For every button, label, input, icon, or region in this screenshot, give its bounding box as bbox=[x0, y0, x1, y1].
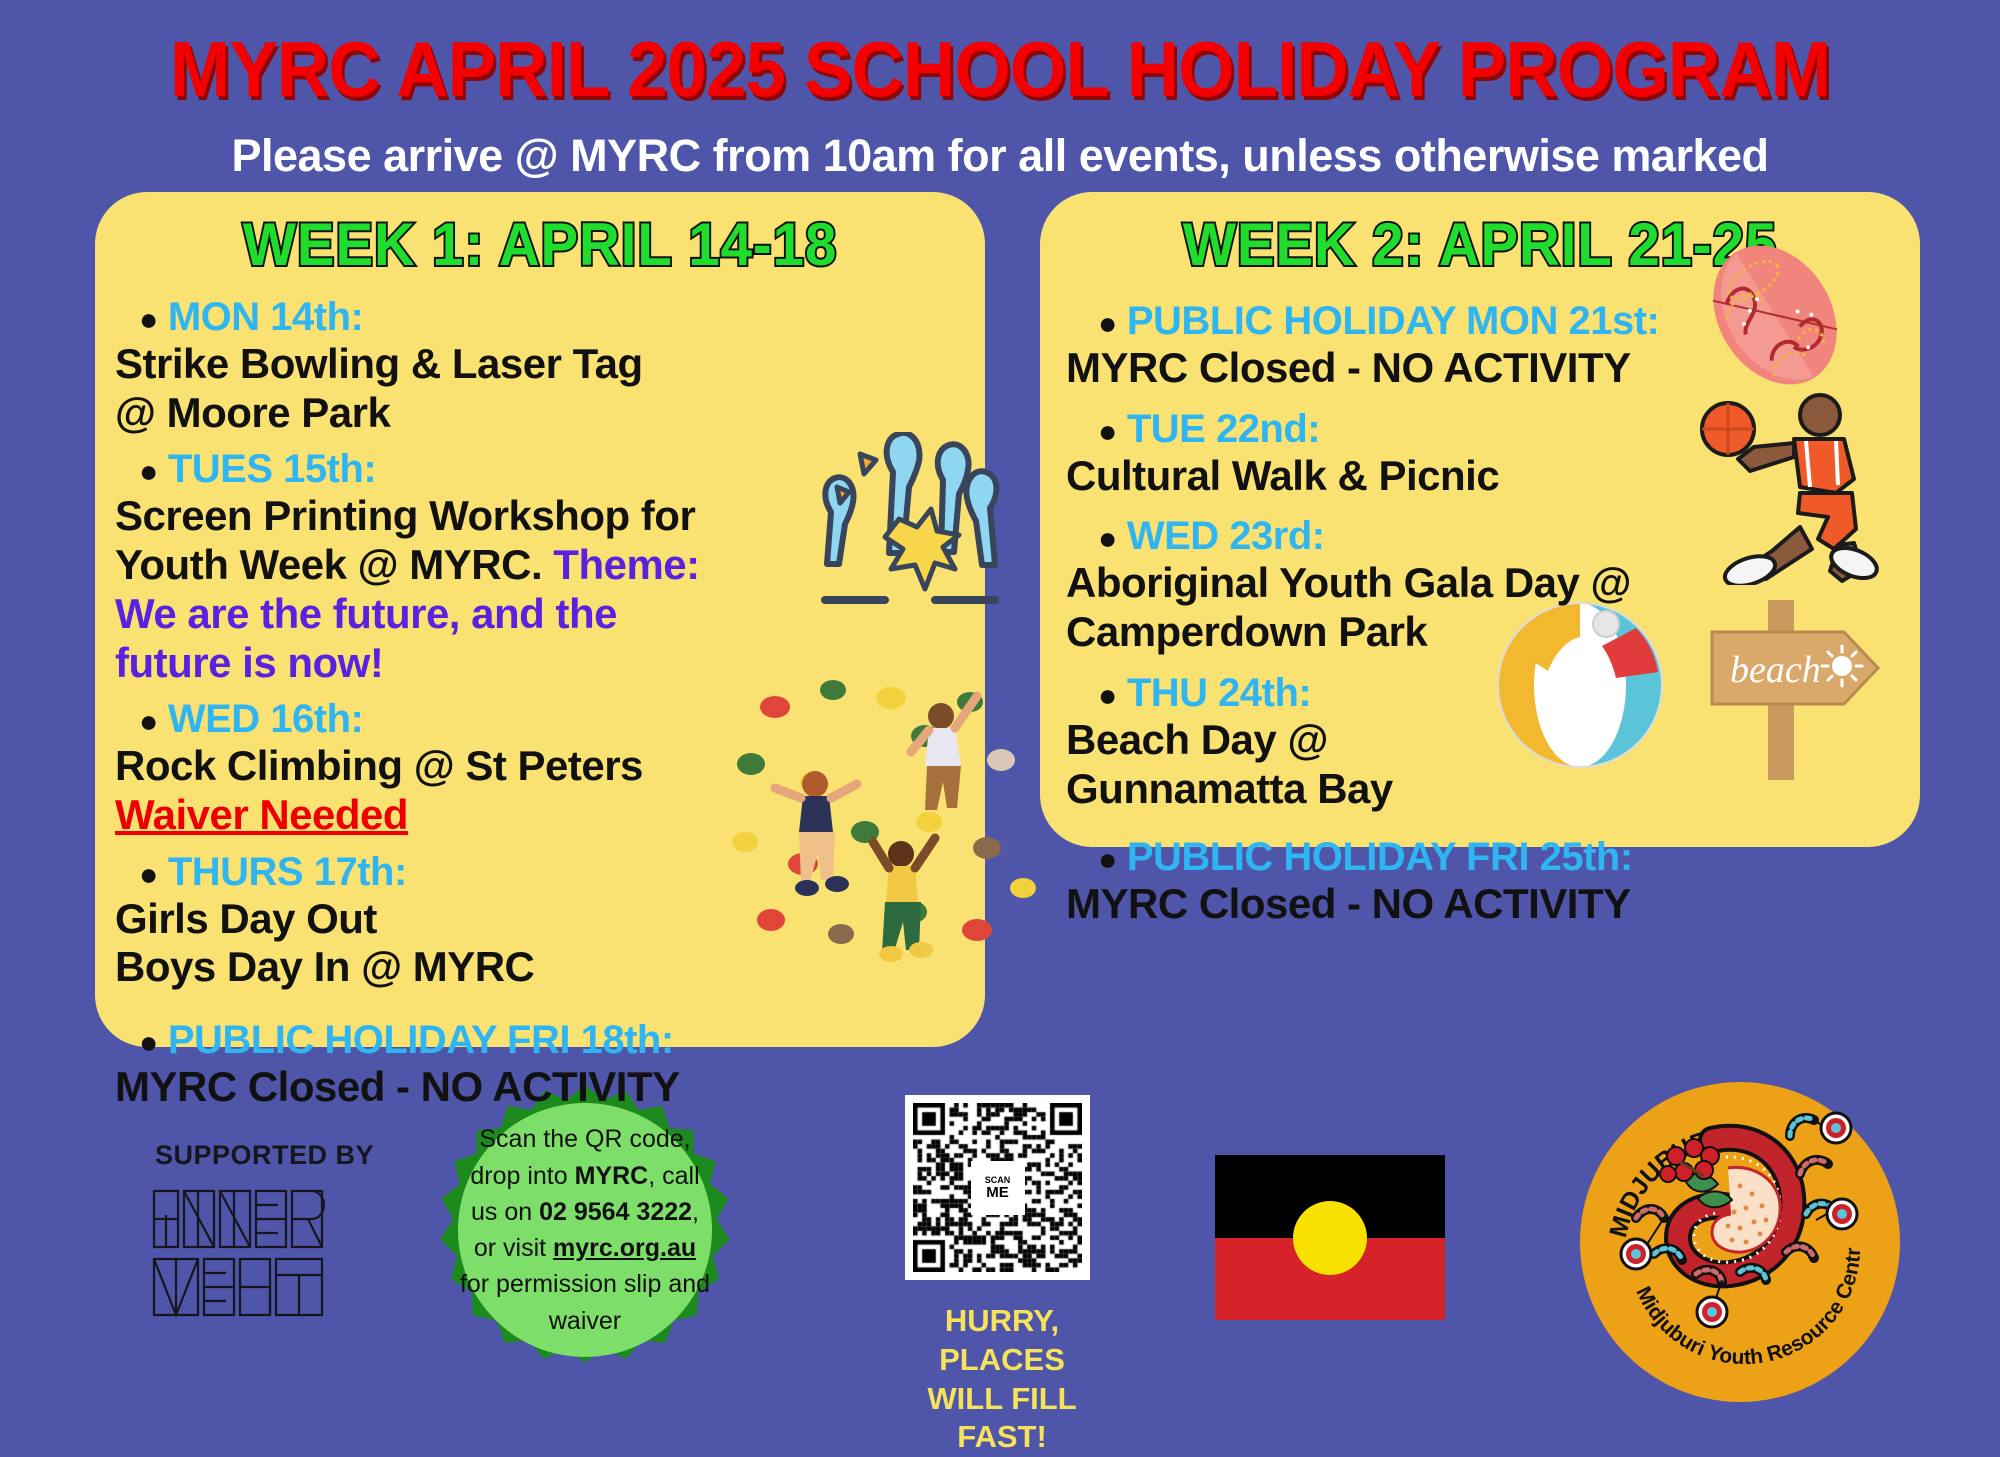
desc-line: @ Moore Park bbox=[115, 389, 721, 438]
week2-card: WEEK 2: APRIL 21-25 ●PUBLIC HOLIDAY MON … bbox=[1040, 192, 1920, 847]
desc-tue22: Cultural Walk & Picnic bbox=[1040, 452, 1700, 501]
bullet-icon: ● bbox=[139, 301, 158, 337]
page-title: MYRC APRIL 2025 SCHOOL HOLIDAY PROGRAM bbox=[70, 24, 1930, 115]
desc-mon: Strike Bowling & Laser Tag @ Moore Park bbox=[95, 340, 735, 437]
week2-entry-wed: ●WED 23rd: Aboriginal Youth Gala Day @ C… bbox=[1040, 514, 1920, 656]
desc-fri25: MYRC Closed - NO ACTIVITY bbox=[1040, 880, 1700, 929]
desc-thurs: Girls Day Out Boys Day In @ MYRC bbox=[95, 895, 735, 992]
desc-line: Rock Climbing @ St Peters bbox=[115, 742, 721, 791]
qr-code[interactable]: SCAN ME bbox=[905, 1095, 1090, 1280]
scan-me-badge: SCAN ME bbox=[971, 1161, 1025, 1215]
week1-entries: ●MON 14th: Strike Bowling & Laser Tag @ … bbox=[95, 279, 985, 1112]
day-label-wed23: ●WED 23rd: bbox=[1040, 514, 1920, 559]
desc-thu24: Beach Day @ Gunnamatta Bay bbox=[1040, 716, 1700, 813]
bullet-icon: ● bbox=[1098, 413, 1117, 449]
desc-line: Beach Day @ bbox=[1066, 716, 1686, 765]
bullet-icon: ● bbox=[139, 1024, 158, 1060]
bullet-icon: ● bbox=[139, 856, 158, 892]
supported-by-label: SUPPORTED BY bbox=[155, 1140, 374, 1171]
week1-entry-thurs: ●THURS 17th: Girls Day Out Boys Day In @… bbox=[95, 850, 985, 992]
cta-website-link[interactable]: myrc.org.au bbox=[553, 1234, 696, 1262]
cta-part4: for permission slip and waiver bbox=[460, 1270, 710, 1334]
aboriginal-flag bbox=[1215, 1155, 1445, 1320]
desc-mon21: MYRC Closed - NO ACTIVITY bbox=[1040, 344, 1700, 393]
bullet-icon: ● bbox=[139, 703, 158, 739]
logo-artwork bbox=[1580, 1082, 1900, 1402]
week2-heading: WEEK 2: APRIL 21-25 bbox=[1066, 210, 1893, 279]
desc-line: Week @ MYRC. bbox=[240, 541, 543, 588]
day-label-fri: ●PUBLIC HOLIDAY FRI 18th: bbox=[95, 1018, 985, 1063]
week1-card: WEEK 1: APRIL 14-18 ●MON 14th: Strike Bo… bbox=[95, 192, 985, 1047]
scan-label-bottom: ME bbox=[986, 1185, 1009, 1200]
waiver-notice: Waiver Needed bbox=[115, 791, 408, 838]
desc-line: MYRC Closed - NO ACTIVITY bbox=[115, 1063, 721, 1112]
desc-line: Strike Bowling & Laser Tag bbox=[115, 340, 721, 389]
hurry-line2: WILL FILL FAST! bbox=[887, 1380, 1117, 1457]
week1-entry-tues: ●TUES 15th: Screen Printing Workshop for… bbox=[95, 447, 985, 687]
desc-line: MYRC Closed - NO ACTIVITY bbox=[1066, 344, 1686, 393]
bullet-icon: ● bbox=[1098, 305, 1117, 341]
week1-entry-wed: ●WED 16th: Rock Climbing @ St Peters Wai… bbox=[95, 697, 985, 839]
myrc-logo: MIDJUBURI Midjuburi Youth Resource Centr… bbox=[1580, 1082, 1900, 1402]
inner-west-logo bbox=[150, 1185, 360, 1325]
day-label-thurs: ●THURS 17th: bbox=[95, 850, 985, 895]
qr-block: SCAN ME HURRY, PLACES WILL FILL FAST! bbox=[905, 1095, 1105, 1457]
week2-entry-fri: ●PUBLIC HOLIDAY FRI 25th: MYRC Closed - … bbox=[1040, 835, 1920, 929]
hurry-text: HURRY, PLACES WILL FILL FAST! bbox=[887, 1302, 1117, 1457]
desc-wed: Rock Climbing @ St Peters Waiver Needed bbox=[95, 742, 735, 839]
week2-entry-tue: ●TUE 22nd: Cultural Walk & Picnic bbox=[1040, 407, 1920, 501]
day-label-mon21: ●PUBLIC HOLIDAY MON 21st: bbox=[1040, 299, 1920, 344]
page-subtitle: Please arrive @ MYRC from 10am for all e… bbox=[0, 130, 2000, 182]
week1-entry-mon: ●MON 14th: Strike Bowling & Laser Tag @ … bbox=[95, 295, 985, 437]
desc-line: Camperdown Park bbox=[1066, 608, 1686, 657]
desc-line: Aboriginal Youth Gala Day @ bbox=[1066, 559, 1686, 608]
desc-wed23: Aboriginal Youth Gala Day @ Camperdown P… bbox=[1040, 559, 1700, 656]
day-label-mon: ●MON 14th: bbox=[95, 295, 985, 340]
day-label-thu24: ●THU 24th: bbox=[1040, 671, 1920, 716]
week1-entry-fri: ●PUBLIC HOLIDAY FRI 18th: MYRC Closed - … bbox=[95, 1018, 985, 1112]
bullet-icon: ● bbox=[1098, 520, 1117, 556]
desc-line: Boys Day In @ MYRC bbox=[115, 943, 721, 992]
cta-starburst: Scan the QR code, drop into MYRC, call u… bbox=[440, 1085, 730, 1375]
cta-text: Scan the QR code, drop into MYRC, call u… bbox=[458, 1115, 712, 1345]
desc-tues: Screen Printing Workshop for Youth Week … bbox=[95, 492, 735, 687]
week1-heading: WEEK 1: APRIL 14-18 bbox=[122, 210, 959, 279]
hurry-line1: HURRY, PLACES bbox=[887, 1302, 1117, 1380]
bullet-icon: ● bbox=[1098, 841, 1117, 877]
week2-entries: ●PUBLIC HOLIDAY MON 21st: MYRC Closed - … bbox=[1040, 279, 1920, 929]
flag-sun-circle bbox=[1293, 1201, 1367, 1275]
desc-line: Gunnamatta Bay bbox=[1066, 765, 1686, 814]
desc-fri: MYRC Closed - NO ACTIVITY bbox=[95, 1063, 735, 1112]
poster: MYRC APRIL 2025 SCHOOL HOLIDAY PROGRAM P… bbox=[0, 0, 2000, 1414]
bullet-icon: ● bbox=[1098, 677, 1117, 713]
desc-line: Cultural Walk & Picnic bbox=[1066, 452, 1686, 501]
day-label-tue22: ●TUE 22nd: bbox=[1040, 407, 1920, 452]
bullet-icon: ● bbox=[139, 453, 158, 489]
desc-line: Girls Day Out bbox=[115, 895, 721, 944]
day-label-fri25: ●PUBLIC HOLIDAY FRI 25th: bbox=[1040, 835, 1920, 880]
cta-phone: 02 9564 3222 bbox=[539, 1198, 692, 1226]
week2-entry-mon: ●PUBLIC HOLIDAY MON 21st: MYRC Closed - … bbox=[1040, 299, 1920, 393]
cta-myrc: MYRC bbox=[575, 1162, 649, 1190]
day-label-tues: ●TUES 15th: bbox=[95, 447, 985, 492]
week2-entry-thu: ●THU 24th: Beach Day @ Gunnamatta Bay bbox=[1040, 671, 1920, 813]
day-label-wed: ●WED 16th: bbox=[95, 697, 985, 742]
desc-line: MYRC Closed - NO ACTIVITY bbox=[1066, 880, 1686, 929]
